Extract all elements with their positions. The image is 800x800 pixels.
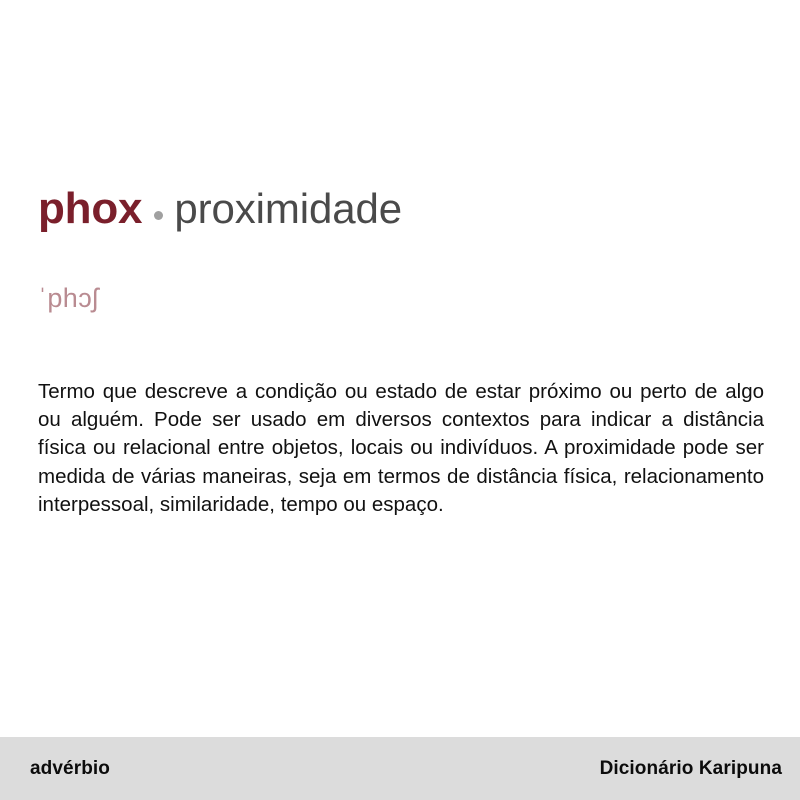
translation: proximidade [174, 185, 402, 232]
entry-block: phoxproximidade [38, 186, 763, 232]
definition-text: Termo que descreve a condição ou estado … [38, 378, 764, 519]
dictionary-entry-card: phoxproximidade ˈphɔʃ Termo que descreve… [0, 0, 800, 800]
entry-headline: phoxproximidade [38, 186, 763, 232]
footer-bar: advérbio Dicionário Karipuna [0, 737, 800, 800]
part-of-speech-label: advérbio [30, 758, 110, 780]
phonetic-transcription: ˈphɔʃ [38, 283, 99, 314]
headword: phox [38, 184, 142, 233]
bullet-dot-icon [154, 211, 163, 220]
dictionary-source-label: Dicionário Karipuna [600, 758, 782, 780]
